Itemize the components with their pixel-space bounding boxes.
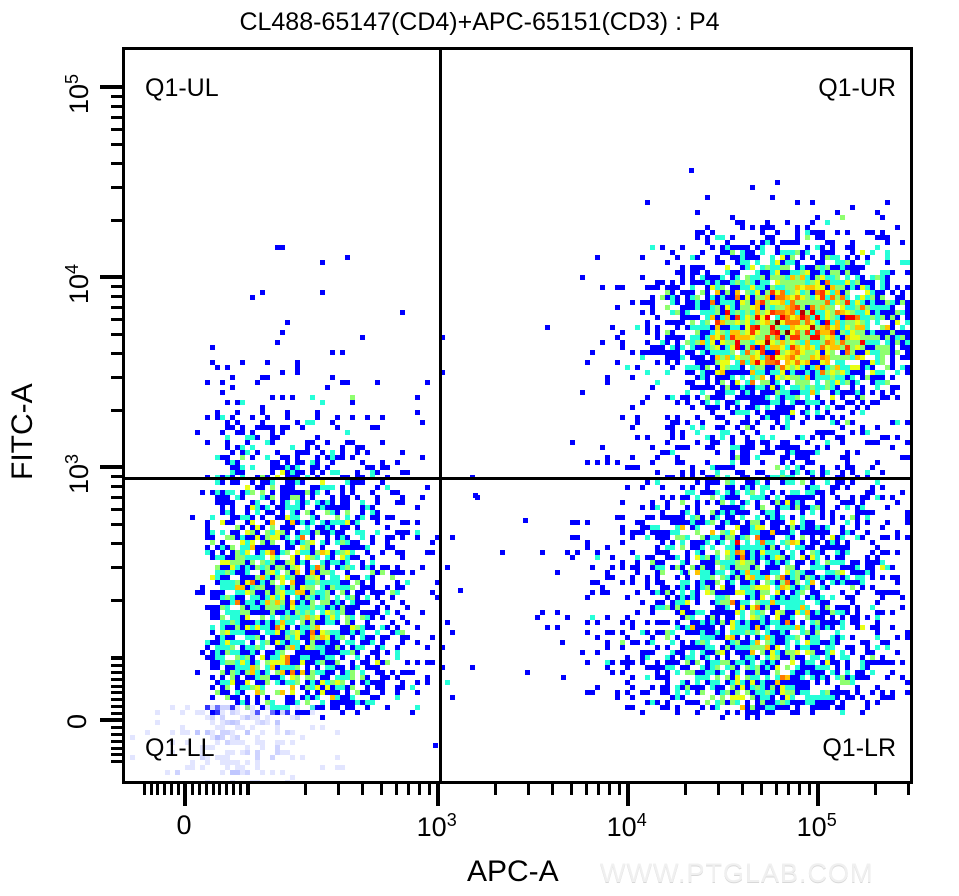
axis-tick bbox=[183, 784, 187, 806]
axis-tick bbox=[111, 698, 122, 701]
axis-tick bbox=[111, 508, 122, 511]
axis-tick bbox=[380, 784, 383, 795]
axis-tick bbox=[816, 784, 820, 806]
axis-tick bbox=[111, 523, 122, 526]
axis-tick bbox=[247, 784, 250, 795]
axis-tick bbox=[395, 784, 398, 795]
axis-tick bbox=[100, 275, 122, 279]
y-tick-label: 104 bbox=[62, 264, 95, 304]
quadrant-label-upper-left: Q1-UL bbox=[145, 74, 219, 103]
axis-tick bbox=[111, 105, 122, 108]
axis-tick bbox=[111, 542, 122, 545]
axis-tick bbox=[177, 784, 180, 795]
x-tick-label: 103 bbox=[417, 810, 457, 843]
axis-tick bbox=[798, 784, 801, 795]
axis-tick bbox=[111, 566, 122, 569]
axis-tick bbox=[436, 784, 440, 806]
quadrant-label-lower-left: Q1-LL bbox=[145, 734, 214, 763]
axis-tick bbox=[907, 784, 910, 795]
axis-tick bbox=[111, 685, 122, 688]
axis-tick bbox=[205, 784, 208, 795]
axis-tick bbox=[111, 760, 122, 763]
axis-tick bbox=[585, 784, 588, 795]
axis-tick bbox=[111, 753, 122, 756]
axis-tick bbox=[100, 465, 122, 469]
x-tick-label: 0 bbox=[176, 810, 191, 841]
x-axis-title: APC-A bbox=[467, 855, 559, 889]
axis-tick bbox=[111, 409, 122, 412]
axis-tick bbox=[191, 784, 194, 795]
axis-tick bbox=[111, 485, 122, 488]
axis-tick bbox=[111, 496, 122, 499]
axis-tick bbox=[111, 186, 122, 189]
axis-tick bbox=[775, 784, 778, 795]
axis-tick bbox=[760, 784, 763, 795]
axis-tick bbox=[111, 295, 122, 298]
axis-tick bbox=[111, 705, 122, 708]
axis-tick bbox=[418, 784, 421, 795]
axis-tick bbox=[361, 784, 364, 795]
axis-tick bbox=[337, 784, 340, 795]
plot-area[interactable]: Q1-UL Q1-UR Q1-LL Q1-LR bbox=[122, 47, 913, 784]
scatter-density-canvas bbox=[125, 50, 913, 784]
axis-tick bbox=[684, 784, 687, 795]
axis-tick bbox=[143, 784, 146, 795]
axis-tick bbox=[111, 599, 122, 602]
y-tick-label: 0 bbox=[62, 714, 93, 729]
axis-tick bbox=[808, 784, 811, 795]
axis-tick bbox=[111, 691, 122, 694]
axis-tick bbox=[212, 784, 215, 795]
axis-tick bbox=[111, 333, 122, 336]
axis-tick bbox=[111, 219, 122, 222]
axis-tick bbox=[111, 162, 122, 165]
axis-tick bbox=[225, 784, 228, 795]
axis-tick bbox=[111, 740, 122, 743]
watermark: WWW.PTGLAB.COM bbox=[600, 858, 874, 889]
axis-tick bbox=[608, 784, 611, 795]
axis-tick bbox=[163, 784, 166, 795]
axis-tick bbox=[170, 784, 173, 795]
gate-line-horizontal[interactable] bbox=[125, 477, 910, 480]
axis-tick bbox=[198, 784, 201, 795]
axis-tick bbox=[111, 664, 122, 667]
axis-tick bbox=[717, 784, 720, 795]
axis-tick bbox=[111, 306, 122, 309]
axis-tick bbox=[570, 784, 573, 795]
axis-tick bbox=[100, 85, 122, 89]
axis-tick bbox=[111, 656, 122, 659]
axis-tick bbox=[111, 285, 122, 288]
axis-tick bbox=[494, 784, 497, 795]
axis-tick bbox=[111, 678, 122, 681]
axis-tick bbox=[100, 718, 122, 722]
axis-tick bbox=[527, 784, 530, 795]
quadrant-label-lower-right: Q1-LR bbox=[822, 734, 896, 763]
axis-tick bbox=[874, 784, 877, 795]
axis-tick bbox=[304, 784, 307, 795]
axis-tick bbox=[111, 318, 122, 321]
axis-tick bbox=[111, 352, 122, 355]
x-tick-label: 105 bbox=[797, 810, 837, 843]
gate-line-vertical[interactable] bbox=[439, 50, 442, 781]
axis-tick bbox=[111, 712, 122, 715]
axis-tick bbox=[111, 671, 122, 674]
axis-tick bbox=[111, 128, 122, 131]
axis-tick bbox=[150, 784, 153, 795]
page-title: CL488-65147(CD4)+APC-65151(CD3) : P4 bbox=[0, 8, 959, 37]
axis-tick bbox=[156, 784, 159, 795]
y-tick-label: 103 bbox=[62, 454, 95, 494]
y-axis-title: FITC-A bbox=[6, 383, 40, 480]
axis-tick bbox=[111, 747, 122, 750]
axis-tick bbox=[111, 143, 122, 146]
axis-tick bbox=[626, 784, 630, 806]
axis-tick bbox=[787, 784, 790, 795]
axis-tick bbox=[741, 784, 744, 795]
axis-tick bbox=[111, 726, 122, 729]
quadrant-label-upper-right: Q1-UR bbox=[818, 74, 896, 103]
x-tick-label: 104 bbox=[607, 810, 647, 843]
axis-tick bbox=[239, 784, 242, 795]
axis-tick bbox=[111, 733, 122, 736]
axis-tick bbox=[428, 784, 431, 795]
axis-tick bbox=[218, 784, 221, 795]
axis-tick bbox=[111, 95, 122, 98]
axis-tick bbox=[232, 784, 235, 795]
axis-tick bbox=[407, 784, 410, 795]
axis-tick bbox=[111, 376, 122, 379]
axis-tick bbox=[618, 784, 621, 795]
axis-tick bbox=[111, 475, 122, 478]
axis-tick bbox=[597, 784, 600, 795]
y-tick-label: 105 bbox=[62, 74, 95, 114]
axis-tick bbox=[111, 116, 122, 119]
axis-tick bbox=[551, 784, 554, 795]
flow-cytometry-plot: CL488-65147(CD4)+APC-65151(CD3) : P4 Q1-… bbox=[0, 0, 959, 896]
